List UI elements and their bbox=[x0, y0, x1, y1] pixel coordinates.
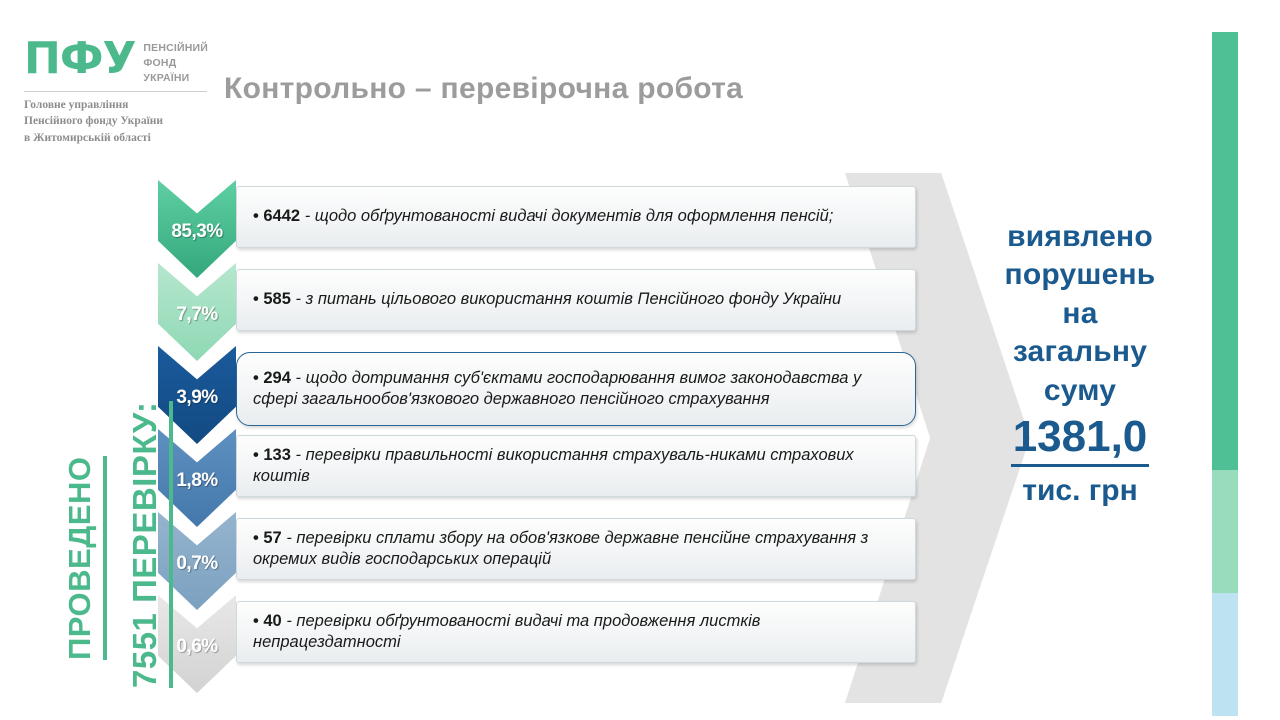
item-description: перевірки правильності використання стра… bbox=[253, 446, 854, 485]
percent-badge: 3,9% bbox=[176, 387, 217, 409]
logo-subtitle: Головне управління Пенсійного фонду Укра… bbox=[24, 97, 210, 147]
logo-subtitle-line-2: Пенсійного фонду України bbox=[24, 113, 210, 130]
item-description: перевірки сплати збору на обов'язкове де… bbox=[253, 529, 868, 568]
logo-word-line-1: ПЕНСІЙНИЙ bbox=[143, 41, 208, 56]
item-card: • 6442 - щодо обґрунтованості видачі док… bbox=[236, 186, 916, 248]
item-description: щодо обґрунтованості видачі документів д… bbox=[315, 207, 834, 225]
bullet-icon: • bbox=[253, 369, 263, 387]
logo-divider bbox=[24, 91, 207, 92]
logo-subtitle-line-1: Головне управління bbox=[24, 97, 210, 114]
vertical-label-count: 7551 ПЕРЕВІРКУ: bbox=[126, 401, 173, 688]
logo-row: ПФУ ПЕНСІЙНИЙ ФОНД УКРАЇНИ bbox=[24, 38, 210, 86]
edge-bar-segment-green bbox=[1212, 32, 1238, 470]
item-description: з питань цільового використання коштів П… bbox=[306, 290, 842, 308]
logo-mark-pfu: ПФУ bbox=[24, 38, 135, 80]
list-item: 0,7% • 57 - перевірки сплати збору на об… bbox=[158, 512, 918, 595]
item-dash: - bbox=[286, 529, 292, 547]
percent-badge: 7,7% bbox=[176, 304, 217, 326]
item-text: • 57 - перевірки сплати збору на обов'яз… bbox=[253, 528, 901, 570]
percent-badge: 85,3% bbox=[171, 221, 222, 243]
item-card: • 585 - з питань цільового використання … bbox=[236, 269, 916, 331]
item-count: 6442 bbox=[263, 207, 300, 225]
list-item: 85,3% • 6442 - щодо обґрунтованості вида… bbox=[158, 180, 918, 263]
item-card: • 40 - перевірки обґрунтованості видачі … bbox=[236, 601, 916, 663]
percent-badge: 0,6% bbox=[176, 636, 217, 658]
breakdown-list: 85,3% • 6442 - щодо обґрунтованості вида… bbox=[158, 180, 918, 678]
percent-badge: 0,7% bbox=[176, 553, 217, 575]
item-text: • 40 - перевірки обґрунтованості видачі … bbox=[253, 611, 901, 653]
bullet-icon: • bbox=[253, 612, 263, 630]
list-item: 7,7% • 585 - з питань цільового використ… bbox=[158, 263, 918, 346]
summary-amount: 1381,0 bbox=[1011, 412, 1150, 467]
item-count: 133 bbox=[263, 446, 291, 464]
percent-badge: 1,8% bbox=[176, 470, 217, 492]
item-count: 585 bbox=[263, 290, 291, 308]
vertical-label-provedeno: ПРОВЕДЕНО bbox=[62, 457, 107, 661]
item-dash: - bbox=[305, 207, 311, 225]
summary-line-3: на bbox=[965, 295, 1195, 333]
item-text: • 294 - щодо дотримання суб'єктами госпо… bbox=[253, 368, 901, 410]
summary-line-5: суму bbox=[965, 372, 1195, 410]
logo-wordmark: ПЕНСІЙНИЙ ФОНД УКРАЇНИ bbox=[143, 38, 208, 86]
bullet-icon: • bbox=[253, 529, 263, 547]
item-text: • 133 - перевірки правильності використа… bbox=[253, 445, 901, 487]
list-item: 1,8% • 133 - перевірки правильності вико… bbox=[158, 429, 918, 512]
bullet-icon: • bbox=[253, 290, 263, 308]
item-description: перевірки обґрунтованості видачі та прод… bbox=[253, 612, 760, 651]
item-dash: - bbox=[296, 446, 302, 464]
summary-line-2: порушень bbox=[965, 256, 1195, 294]
item-count: 40 bbox=[263, 612, 281, 630]
list-item: 0,6% • 40 - перевірки обґрунтованості ви… bbox=[158, 595, 918, 678]
item-text: • 6442 - щодо обґрунтованості видачі док… bbox=[253, 206, 833, 227]
bullet-icon: • bbox=[253, 207, 263, 225]
item-text: • 585 - з питань цільового використання … bbox=[253, 289, 841, 310]
item-card: • 294 - щодо дотримання суб'єктами госпо… bbox=[236, 352, 916, 426]
item-card: • 133 - перевірки правильності використа… bbox=[236, 435, 916, 497]
logo-word-line-2: ФОНД bbox=[143, 56, 208, 71]
slide-canvas: ПФУ ПЕНСІЙНИЙ ФОНД УКРАЇНИ Головне управ… bbox=[0, 0, 1280, 720]
summary-unit: тис. грн bbox=[965, 471, 1195, 510]
list-item: 3,9% • 294 - щодо дотримання суб'єктами … bbox=[158, 346, 918, 429]
logo-subtitle-line-3: в Житомирській області bbox=[24, 130, 210, 147]
summary-panel: виявлено порушень на загальну суму 1381,… bbox=[965, 218, 1195, 510]
item-description: щодо дотримання суб'єктами господарюванн… bbox=[253, 369, 861, 408]
edge-bar-segment-light-blue bbox=[1212, 593, 1238, 716]
edge-bar-segment-light-green bbox=[1212, 470, 1238, 593]
bullet-icon: • bbox=[253, 446, 263, 464]
item-dash: - bbox=[296, 290, 302, 308]
item-dash: - bbox=[286, 612, 292, 630]
organization-logo: ПФУ ПЕНСІЙНИЙ ФОНД УКРАЇНИ Головне управ… bbox=[24, 38, 210, 147]
item-count: 294 bbox=[263, 369, 291, 387]
summary-line-1: виявлено bbox=[965, 218, 1195, 256]
item-count: 57 bbox=[263, 529, 281, 547]
edge-color-bar bbox=[1212, 32, 1238, 716]
item-card: • 57 - перевірки сплати збору на обов'яз… bbox=[236, 518, 916, 580]
logo-word-line-3: УКРАЇНИ bbox=[143, 71, 208, 86]
item-dash: - bbox=[296, 369, 302, 387]
summary-line-4: загальну bbox=[965, 333, 1195, 371]
page-title: Контрольно – перевірочна робота bbox=[224, 72, 743, 106]
